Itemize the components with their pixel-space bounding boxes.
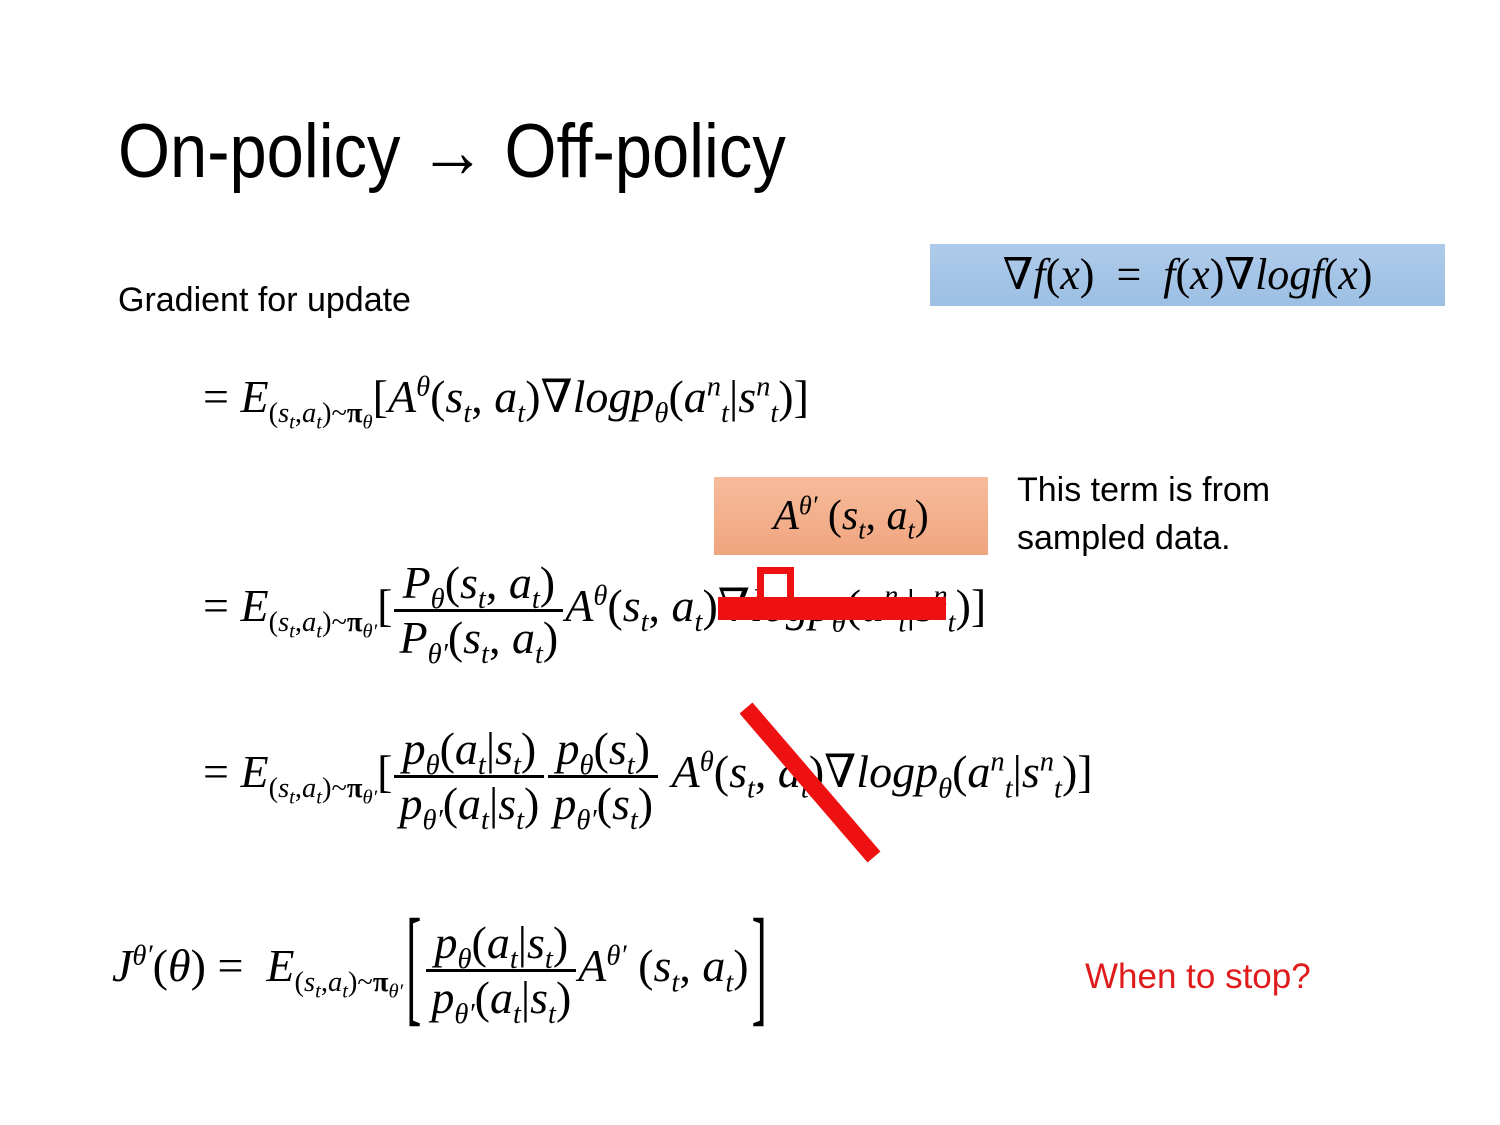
gradient-for-update-label: Gradient for update	[118, 281, 411, 320]
bracket-close: ]	[752, 901, 767, 1032]
equation-line-3: = E(st,at)~πθ′[pθ(at|st)pθ′(at|st)pθ(st)…	[203, 726, 1093, 827]
action-probability-ratio-fraction: pθ(at|st)pθ′(at|st)	[394, 726, 544, 827]
red-theta-highlight-rectangle	[757, 567, 794, 603]
sampled-advantage-highlight-box: Aθ′ (st, at)	[714, 477, 988, 555]
gradient-identity-highlight-box: ∇f(x) = f(x)∇logf(x)	[930, 244, 1445, 306]
equation-line-4-objective: Jθ′(θ) = E(st,at)~πθ′[pθ(at|st)pθ′(at|st…	[112, 920, 770, 1021]
sampled-data-note: This term is from sampled data.	[1017, 466, 1387, 563]
page-title: On-policy → Off-policy	[118, 112, 786, 192]
state-probability-ratio-fraction: pθ(st)pθ′(st)	[548, 726, 658, 827]
equation-line-1: = E(st,at)~πθ[Aθ(st, at)∇logpθ(ant|snt)]	[203, 374, 809, 423]
objective-probability-ratio-fraction: pθ(at|st)pθ′(at|st)	[426, 920, 576, 1021]
when-to-stop-question: When to stop?	[1085, 957, 1311, 997]
probability-ratio-fraction: Pθ(st, at)Pθ′(st, at)	[394, 560, 563, 661]
sampled-advantage-formula: Aθ′ (st, at)	[773, 495, 928, 537]
bracket-open: [	[406, 901, 421, 1032]
gradient-identity-formula: ∇f(x) = f(x)∇logf(x)	[1003, 253, 1373, 297]
struck-advantage-term: Aθ(st, at)	[565, 580, 718, 631]
slide-canvas: On-policy → Off-policy Gradient for upda…	[0, 0, 1500, 1125]
red-strikethrough-bar	[718, 597, 946, 620]
